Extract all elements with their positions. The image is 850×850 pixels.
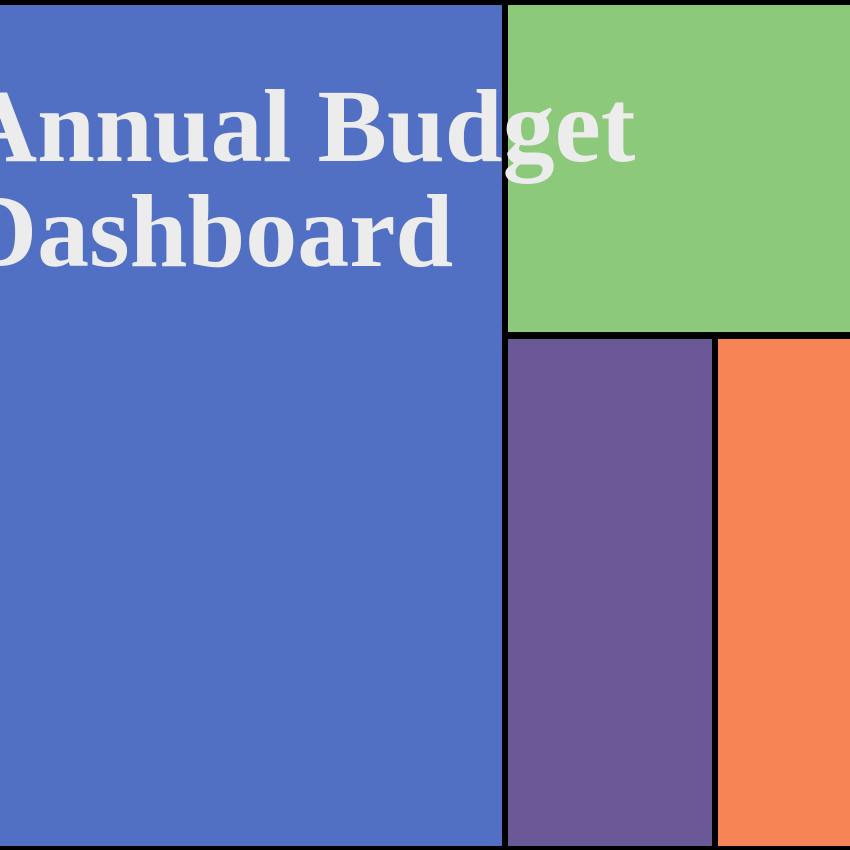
treemap-tile-facilities[interactable]: Facilities 103 [508,339,712,846]
treemap-tile-marketing[interactable]: Marketing 67 [718,339,850,846]
treemap-tile-operations[interactable]: Operations 422 [0,5,502,846]
treemap-chart: Operations 422 Personnel 111 Facilities … [0,0,850,850]
treemap-tile-personnel[interactable]: Personnel 111 [508,5,850,332]
